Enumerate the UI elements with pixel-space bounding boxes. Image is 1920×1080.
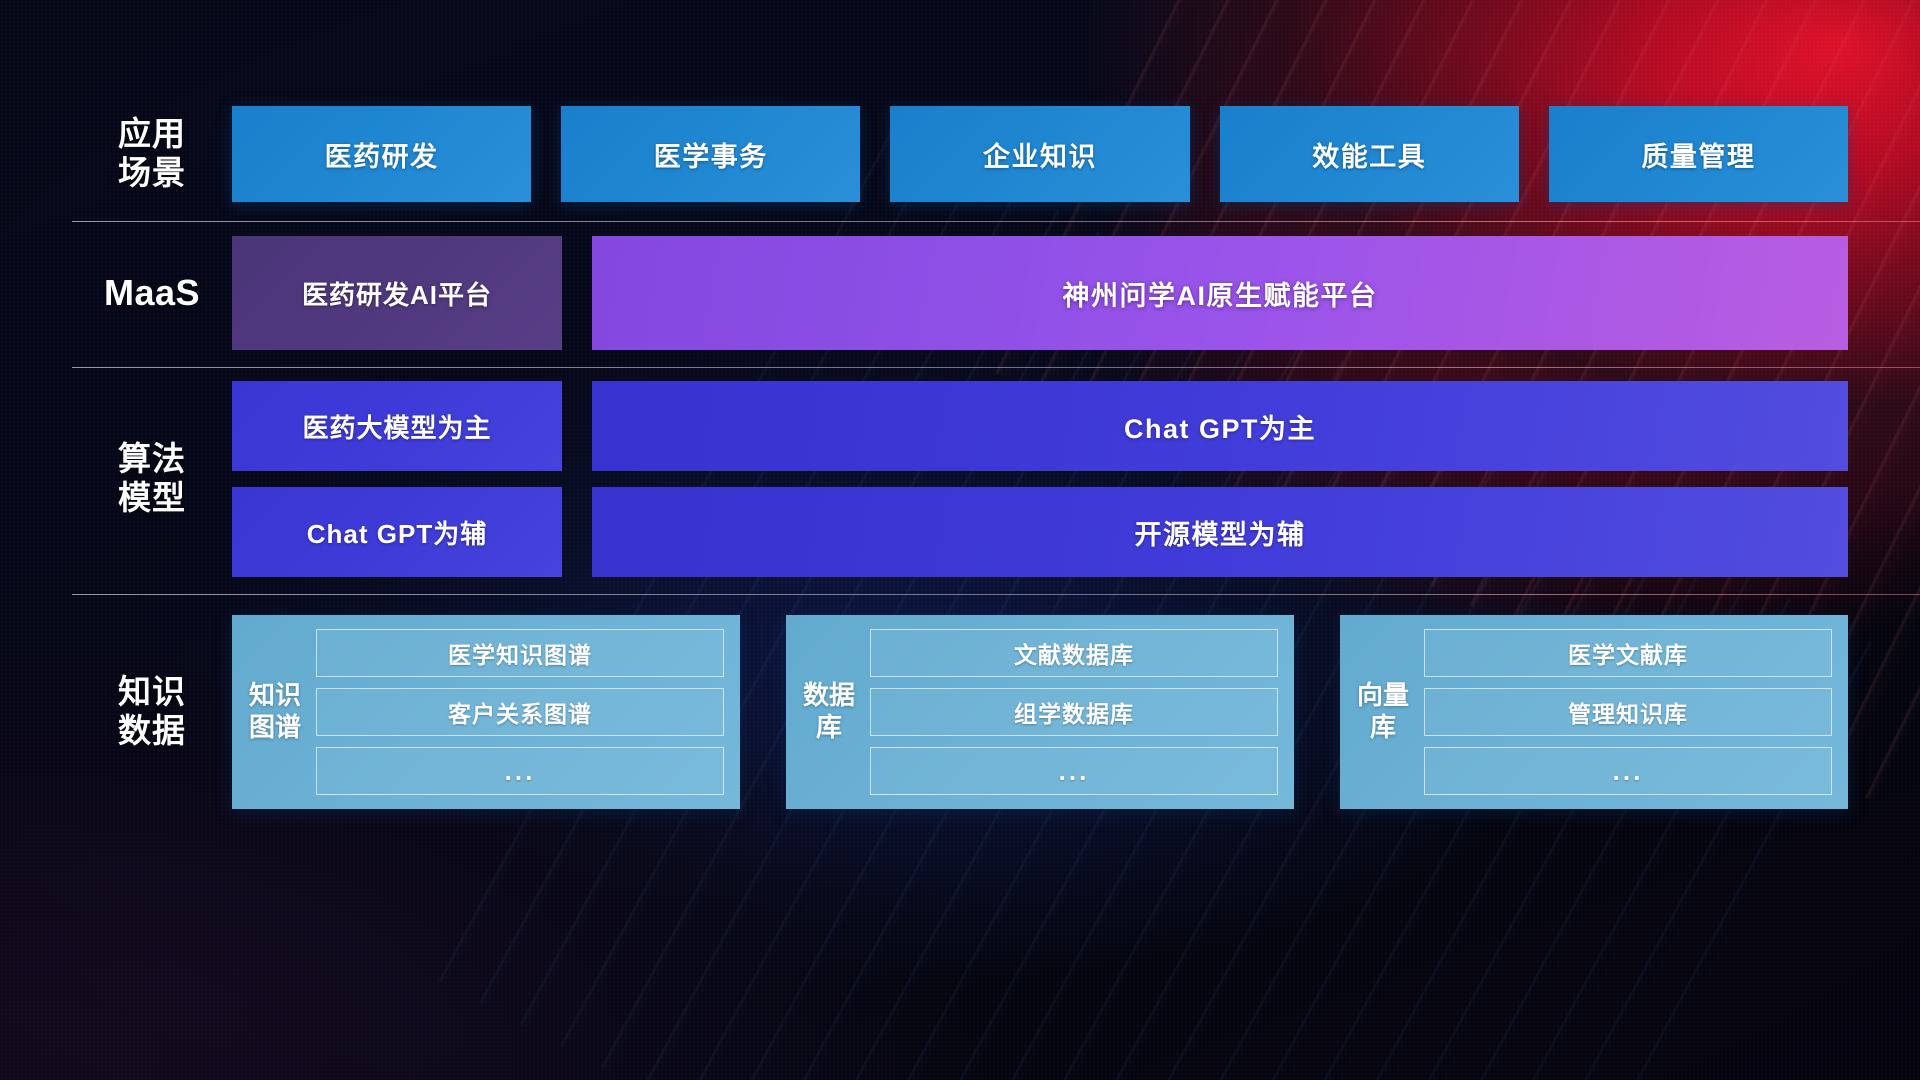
row-label-application-line2: 场景 [72, 154, 232, 193]
knowledge-items-database: 文献数据库 组学数据库 ... [870, 629, 1278, 795]
knowledge-group-database: 数据库 文献数据库 组学数据库 ... [786, 615, 1294, 809]
application-box-list: 医药研发 医学事务 企业知识 效能工具 质量管理 [232, 106, 1848, 202]
row-label-knowledge-line1: 知识 [72, 673, 232, 712]
maas-box-shenzhou-wenxue-platform[interactable]: 神州问学AI原生赋能平台 [592, 236, 1848, 350]
knowledge-item-more-database[interactable]: ... [870, 747, 1278, 795]
algorithm-line-primary: 医药大模型为主 Chat GPT为主 [232, 381, 1848, 471]
maas-box-list: 医药研发AI平台 神州问学AI原生赋能平台 [232, 236, 1848, 350]
row-label-algorithm-line2: 模型 [72, 479, 232, 518]
row-label-knowledge: 知识 数据 [72, 673, 232, 751]
row-label-knowledge-line2: 数据 [72, 712, 232, 751]
knowledge-group-title-knowledge-graph: 知识图谱 [248, 629, 302, 795]
row-knowledge-data: 知识 数据 知识图谱 医学知识图谱 客户关系图谱 ... 数据库 文献数据库 [72, 612, 1848, 812]
row-algorithm-model: 算法 模型 医药大模型为主 Chat GPT为主 Chat GPT为辅 开源模型… [72, 381, 1848, 577]
knowledge-item-medical-knowledge-graph[interactable]: 医学知识图谱 [316, 629, 724, 677]
algorithm-line-secondary: Chat GPT为辅 开源模型为辅 [232, 487, 1848, 577]
row-label-maas: MaaS [72, 272, 232, 314]
algo-box-opensource-secondary[interactable]: 开源模型为辅 [592, 487, 1848, 577]
maas-box-drug-rd-ai-platform[interactable]: 医药研发AI平台 [232, 236, 562, 350]
knowledge-group-vector-store: 向量库 医学文献库 管理知识库 ... [1340, 615, 1848, 809]
algo-box-pharma-llm-primary[interactable]: 医药大模型为主 [232, 381, 562, 471]
knowledge-items-knowledge-graph: 医学知识图谱 客户关系图谱 ... [316, 629, 724, 795]
algo-box-chatgpt-secondary[interactable]: Chat GPT为辅 [232, 487, 562, 577]
divider-algorithm-knowledge [72, 594, 1920, 595]
knowledge-group-title-database: 数据库 [802, 629, 856, 795]
algorithm-box-stack: 医药大模型为主 Chat GPT为主 Chat GPT为辅 开源模型为辅 [232, 381, 1848, 577]
knowledge-item-more-knowledge-graph[interactable]: ... [316, 747, 724, 795]
app-box-drug-rd[interactable]: 医药研发 [232, 106, 531, 202]
row-label-algorithm: 算法 模型 [72, 440, 232, 518]
architecture-diagram: 应用 场景 医药研发 医学事务 企业知识 效能工具 质量管理 MaaS 医药研发… [0, 0, 1920, 1080]
app-box-medical-affairs[interactable]: 医学事务 [561, 106, 860, 202]
knowledge-items-vector-store: 医学文献库 管理知识库 ... [1424, 629, 1832, 795]
app-box-quality-management[interactable]: 质量管理 [1549, 106, 1848, 202]
knowledge-item-medical-literature-store[interactable]: 医学文献库 [1424, 629, 1832, 677]
divider-application-maas [72, 221, 1920, 222]
knowledge-group-title-vector-store: 向量库 [1356, 629, 1410, 795]
knowledge-item-management-knowledge-store[interactable]: 管理知识库 [1424, 688, 1832, 736]
knowledge-item-omics-database[interactable]: 组学数据库 [870, 688, 1278, 736]
diagram-content: 应用 场景 医药研发 医学事务 企业知识 效能工具 质量管理 MaaS 医药研发… [0, 0, 1920, 1080]
row-label-application: 应用 场景 [72, 115, 232, 193]
knowledge-item-customer-relation-graph[interactable]: 客户关系图谱 [316, 688, 724, 736]
app-box-enterprise-knowledge[interactable]: 企业知识 [890, 106, 1189, 202]
divider-maas-algorithm [72, 367, 1920, 368]
knowledge-item-literature-database[interactable]: 文献数据库 [870, 629, 1278, 677]
knowledge-group-knowledge-graph: 知识图谱 医学知识图谱 客户关系图谱 ... [232, 615, 740, 809]
row-maas: MaaS 医药研发AI平台 神州问学AI原生赋能平台 [72, 236, 1848, 350]
app-box-efficiency-tools[interactable]: 效能工具 [1220, 106, 1519, 202]
row-label-application-line1: 应用 [72, 115, 232, 154]
knowledge-group-list: 知识图谱 医学知识图谱 客户关系图谱 ... 数据库 文献数据库 组学数据库 .… [232, 615, 1848, 809]
knowledge-item-more-vector-store[interactable]: ... [1424, 747, 1832, 795]
row-application-scenarios: 应用 场景 医药研发 医学事务 企业知识 效能工具 质量管理 [72, 106, 1848, 202]
algo-box-chatgpt-primary[interactable]: Chat GPT为主 [592, 381, 1848, 471]
row-label-algorithm-line1: 算法 [72, 440, 232, 479]
